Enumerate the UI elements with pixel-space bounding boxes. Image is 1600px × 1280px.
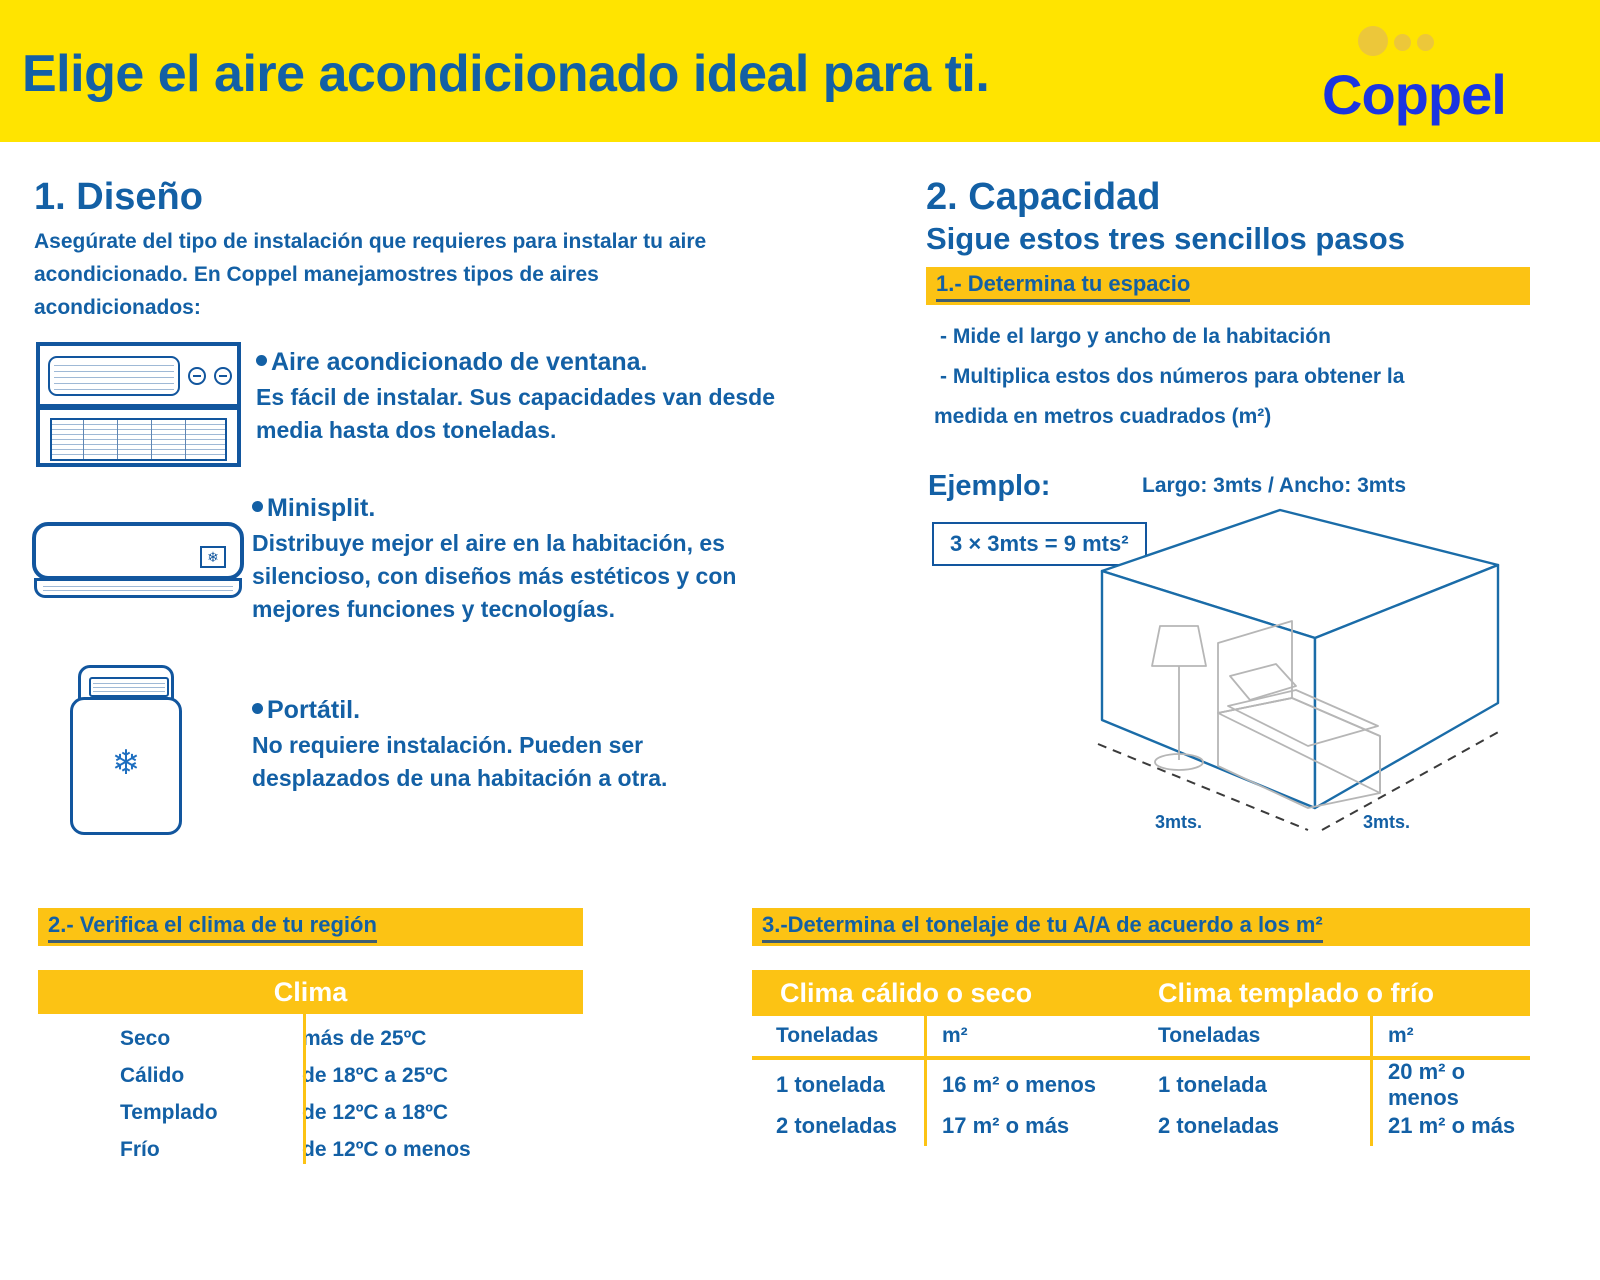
step3-block: 3.-Determina el tonelaje de tu A/A de ac… [752,908,1530,1146]
clima-range: de 12ºC o menos [258,1138,471,1162]
room-diagram [1090,508,1510,843]
minisplit-text: Minisplit. Distribuye mejor el aire en l… [252,494,782,626]
tonelaje-group-header: Clima cálido o seco Clima templado o frí… [752,970,1530,1016]
group-header-templado: Clima templado o frío [1158,978,1434,1009]
window-ac-icon [36,342,241,467]
group-header-calido: Clima cálido o seco [752,978,1158,1009]
logo-wordmark: Coppel [1322,62,1506,127]
table-row: Templado de 12ºC a 18ºC [38,1094,583,1131]
table-row: Cálido de 18ºC a 25ºC [38,1057,583,1094]
col-header-m2-1: m² [924,1024,1158,1048]
step1-line1: - Mide el largo y ancho de la habitación [926,317,1566,357]
clima-name: Templado [38,1101,258,1125]
window-ac-title: Aire acondicionado de ventana. [256,348,776,377]
minisplit-body: ❄ [32,522,244,580]
table-row: 1 tonelada 16 m² o menos 1 tonelada 20 m… [752,1064,1530,1105]
col-header-toneladas-1: Toneladas [752,1024,924,1048]
window-ac-desc: Es fácil de instalar. Sus capacidades va… [256,381,776,447]
portable-body: ❄ [70,697,182,835]
step3-bar-label: 3.-Determina el tonelaje de tu A/A de ac… [762,912,1323,943]
col-header-toneladas-2: Toneladas [1158,1024,1370,1048]
portable-text: Portátil. No requiere instalación. Puede… [252,696,772,795]
coppel-logo: Coppel [1322,22,1532,130]
infographic-page: Elige el aire acondicionado ideal para t… [0,0,1600,1280]
cell-toneladas-2: 2 toneladas [1158,1113,1370,1139]
minisplit-title: Minisplit. [252,494,782,523]
minisplit-desc: Distribuye mejor el aire en la habitació… [252,527,782,626]
section-diseno: 1. Diseño Asegúrate del tipo de instalac… [34,176,794,324]
window-ac-knob-right [214,367,232,385]
minisplit-ac-icon: ❄ [32,522,244,602]
minisplit-display-icon: ❄ [200,546,226,568]
clima-table: Clima Seco más de 25ºC Cálido de 18ºC a … [38,970,583,1168]
tonelaje-divider-2 [1370,1016,1373,1146]
tonelaje-column-headers: Toneladas m² Toneladas m² [752,1016,1530,1056]
table-row: Frío de 12ºC o menos [38,1131,583,1168]
cell-m2-1: 17 m² o más [924,1113,1158,1139]
section2-subheading: Sigue estos tres sencillos pasos [926,221,1566,257]
window-ac-text: Aire acondicionado de ventana. Es fácil … [256,348,776,447]
window-ac-louvre [48,356,180,396]
section-capacidad: 2. Capacidad Sigue estos tres sencillos … [926,176,1566,437]
clima-header-label: Clima [274,977,348,1008]
step1-bar-label: 1.- Determina tu espacio [936,271,1190,302]
bullet-dot-icon [252,501,263,512]
bullet-dot-icon [256,355,267,366]
cell-toneladas-1: 2 toneladas [752,1113,924,1139]
example-dimensions: Largo: 3mts / Ancho: 3mts [1142,474,1406,498]
portable-vent [89,677,169,697]
table-row: Seco más de 25ºC [38,1020,583,1057]
portable-ac-icon: ❄ [70,665,182,835]
section1-intro: Asegúrate del tipo de instalación que re… [34,225,734,324]
clima-range: de 18ºC a 25ºC [258,1064,448,1088]
clima-range: de 12ºC a 18ºC [258,1101,448,1125]
step1-line2: - Multiplica estos dos números para obte… [926,357,1566,397]
col-header-m2-2: m² [1370,1024,1530,1048]
logo-dot-small [1417,34,1434,51]
window-ac-divider [40,404,237,410]
section2-heading: 2. Capacidad [926,176,1566,219]
step3-bar: 3.-Determina el tonelaje de tu A/A de ac… [752,908,1530,946]
room-width-label: 3mts. [1155,812,1202,833]
clima-name: Frío [38,1138,258,1162]
clima-table-body: Seco más de 25ºC Cálido de 18ºC a 25ºC T… [38,1014,583,1168]
portable-desc: No requiere instalación. Pueden ser desp… [252,729,772,795]
window-ac-knob-left [188,367,206,385]
room-depth-label: 3mts. [1363,812,1410,833]
section1-heading: 1. Diseño [34,176,794,219]
page-header: Elige el aire acondicionado ideal para t… [0,0,1600,142]
example-label: Ejemplo: [928,470,1050,503]
step2-bar-label: 2.- Verifica el clima de tu región [48,912,377,943]
cell-toneladas-2: 1 tonelada [1158,1072,1370,1098]
clima-name: Seco [38,1027,258,1051]
clima-range: más de 25ºC [258,1027,426,1051]
tonelaje-table: Clima cálido o seco Clima templado o frí… [752,970,1530,1146]
clima-name: Cálido [38,1064,258,1088]
window-ac-grille [50,418,227,461]
cell-toneladas-1: 1 tonelada [752,1072,924,1098]
step1-bar: 1.- Determina tu espacio [926,267,1530,305]
bullet-dot-icon [252,703,263,714]
minisplit-vent [34,578,242,598]
page-title: Elige el aire acondicionado ideal para t… [22,44,989,104]
step1-line3: medida en metros cuadrados (m²) [926,397,1566,437]
logo-dot-large [1358,26,1388,56]
logo-dot-mid [1394,34,1411,51]
tonelaje-divider-1 [924,1016,927,1146]
clima-column-divider [303,1014,306,1164]
portable-title: Portátil. [252,696,772,725]
window-ac-top [48,354,233,399]
cell-m2-1: 16 m² o menos [924,1072,1158,1098]
snowflake-icon: ❄ [73,746,179,780]
room-svg [1090,508,1510,838]
cell-m2-2: 21 m² o más [1370,1113,1530,1139]
step2-block: 2.- Verifica el clima de tu región Clima… [38,908,583,1168]
table-row: 2 toneladas 17 m² o más 2 toneladas 21 m… [752,1105,1530,1146]
step2-bar: 2.- Verifica el clima de tu región [38,908,583,946]
cell-m2-2: 20 m² o menos [1370,1059,1530,1111]
clima-table-header: Clima [38,970,583,1014]
